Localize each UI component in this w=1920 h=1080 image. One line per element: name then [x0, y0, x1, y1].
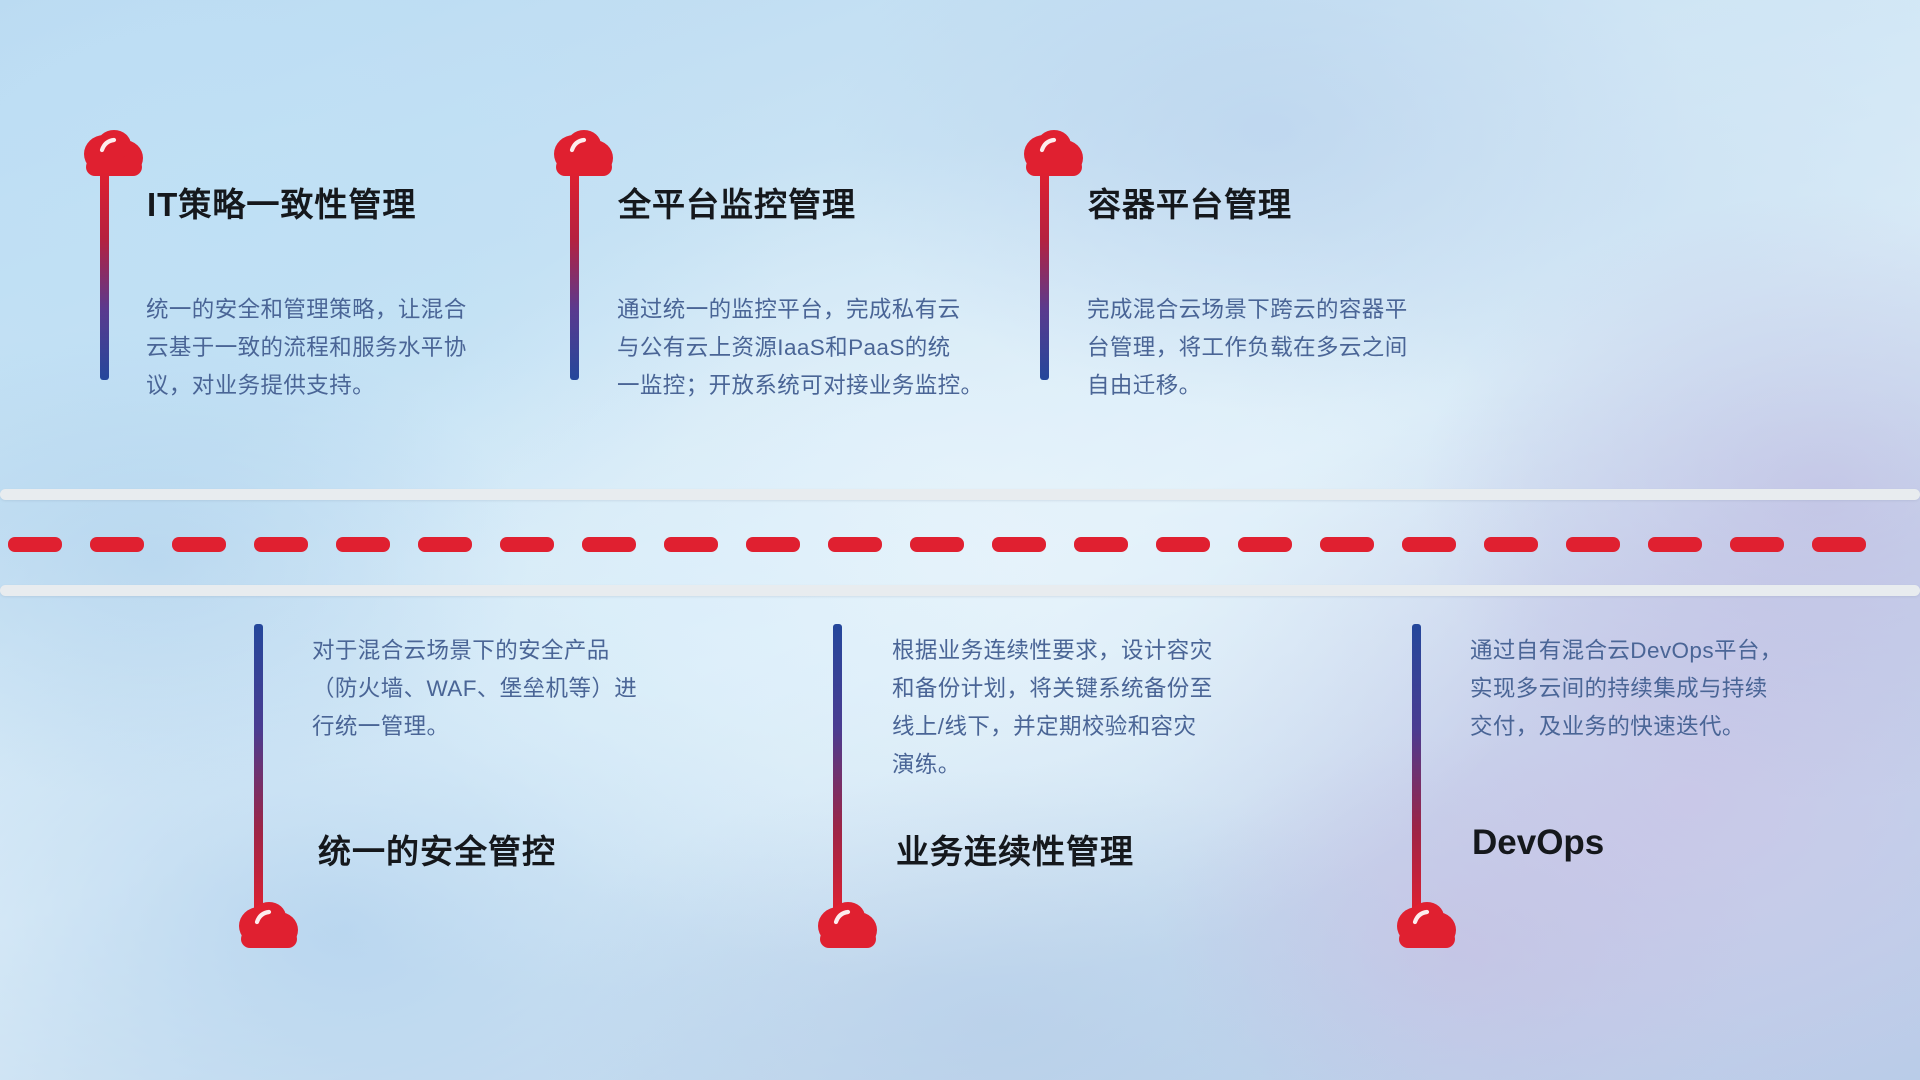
card-title: DevOps: [1472, 823, 1604, 863]
road-dash: [90, 537, 144, 552]
card-title: 全平台监控管理: [618, 178, 856, 226]
pole-connector: [254, 624, 263, 914]
pole-connector: [1412, 624, 1421, 914]
road-dash: [1484, 537, 1538, 552]
road-dash: [418, 537, 472, 552]
infographic-canvas: IT策略一致性管理 统一的安全和管理策略，让混合 云基于一致的流程和服务水平协 …: [0, 0, 1920, 1080]
card-description: 对于混合云场景下的安全产品 （防火墙、WAF、堡垒机等）进 行统一管理。: [312, 632, 692, 746]
pole-connector: [833, 624, 842, 914]
card-description: 通过统一的监控平台，完成私有云 与公有云上资源IaaS和PaaS的统 一监控；开…: [617, 291, 1017, 405]
road-dash: [1648, 537, 1702, 552]
pole-connector: [570, 172, 579, 380]
road-dashed-centerline: [0, 536, 1920, 552]
road-dash: [1074, 537, 1128, 552]
card-title: 业务连续性管理: [896, 825, 1134, 873]
road-dash: [1320, 537, 1374, 552]
card-description: 统一的安全和管理策略，让混合 云基于一致的流程和服务水平协 议，对业务提供支持。: [146, 291, 506, 405]
road-dash: [1730, 537, 1784, 552]
road-dash: [8, 537, 62, 552]
card-description: 通过自有混合云DevOps平台， 实现多云间的持续集成与持续 交付，及业务的快速…: [1470, 632, 1860, 746]
road-dash: [172, 537, 226, 552]
cloud-icon: [1391, 900, 1461, 954]
road-dash: [1238, 537, 1292, 552]
cloud-icon: [78, 128, 148, 182]
road-dash: [1566, 537, 1620, 552]
road-line-top: [0, 489, 1920, 500]
cloud-icon: [812, 900, 882, 954]
cloud-icon: [548, 128, 618, 182]
card-title: IT策略一致性管理: [147, 178, 416, 226]
cloud-icon: [1018, 128, 1088, 182]
road-dash: [500, 537, 554, 552]
card-description: 根据业务连续性要求，设计容灾 和备份计划，将关键系统备份至 线上/线下，并定期校…: [892, 632, 1282, 784]
road-dash: [664, 537, 718, 552]
pole-connector: [1040, 172, 1049, 380]
road-dash: [746, 537, 800, 552]
road-dash: [828, 537, 882, 552]
road-dash: [1812, 537, 1866, 552]
road-dash: [582, 537, 636, 552]
road-dash: [336, 537, 390, 552]
road-dash: [254, 537, 308, 552]
cloud-icon: [233, 900, 303, 954]
road-dash: [910, 537, 964, 552]
card-title: 容器平台管理: [1088, 178, 1292, 226]
card-description: 完成混合云场景下跨云的容器平 台管理，将工作负载在多云之间 自由迁移。: [1087, 291, 1477, 405]
road-dash: [1402, 537, 1456, 552]
road-dash: [1156, 537, 1210, 552]
road-dash: [992, 537, 1046, 552]
road-line-bottom: [0, 585, 1920, 596]
card-title: 统一的安全管控: [318, 825, 556, 873]
pole-connector: [100, 172, 109, 380]
